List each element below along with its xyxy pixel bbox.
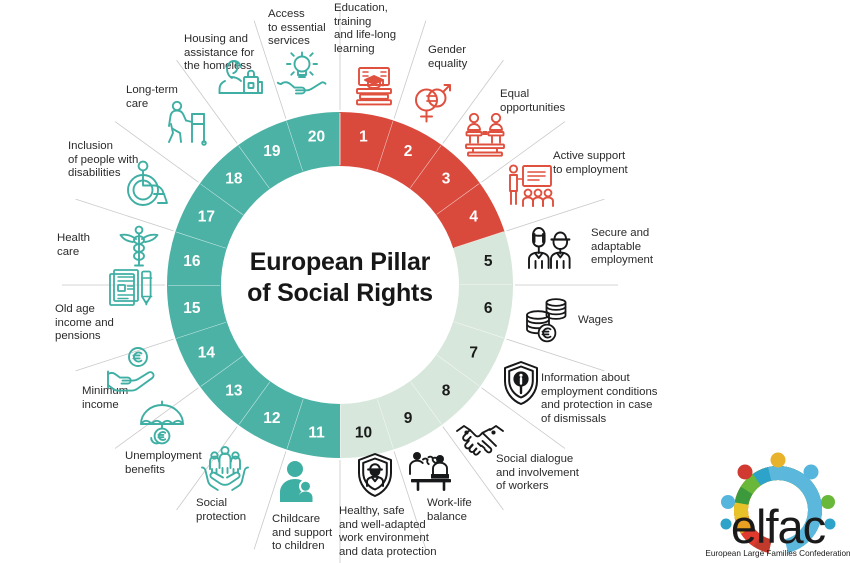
info-shield-icon [495, 358, 547, 410]
segment-number-3: 3 [442, 170, 451, 187]
family-in-hands-icon [199, 443, 251, 495]
parent-desk-icon [405, 446, 457, 498]
principle-label-16: Health care [57, 232, 109, 259]
principle-label-7: Information about employment conditions … [541, 372, 677, 426]
segment-number-6: 6 [484, 300, 493, 317]
worker-shield-icon [349, 450, 401, 502]
segment-number-15: 15 [183, 300, 201, 317]
umbrella-euro-icon [136, 400, 188, 452]
page-title-line1: European Pillar [250, 248, 431, 276]
principle-label-6: Wages [578, 314, 638, 328]
segment-number-10: 10 [355, 425, 372, 442]
segment-number-7: 7 [469, 345, 478, 362]
principle-label-5: Secure and adaptable employment [591, 227, 665, 268]
segment-number-16: 16 [183, 253, 201, 270]
principle-label-3: Equal opportunities [500, 88, 596, 115]
principle-label-2: Gender equality [428, 44, 508, 71]
segment-number-19: 19 [263, 143, 281, 160]
infographic-canvas: 1234567891011121314151617181920 European… [0, 0, 850, 563]
segment-number-9: 9 [404, 410, 413, 427]
segment-number-17: 17 [198, 208, 215, 225]
two-workers-icon [524, 222, 576, 274]
homeless-person-icon [214, 52, 266, 104]
elfac-logo: elfac European Large Families Confederat… [706, 424, 850, 563]
principle-label-4: Active support to employment [553, 150, 653, 177]
segment-number-13: 13 [225, 383, 243, 400]
segment-number-4: 4 [469, 208, 478, 225]
lightbulb-hand-icon [276, 50, 328, 102]
principle-label-12: Social protection [196, 497, 270, 524]
segment-number-11: 11 [308, 425, 325, 442]
principle-label-10: Healthy, safe and well-adapted work envi… [339, 505, 449, 559]
elderly-walker-icon [160, 98, 212, 150]
elfac-tagline: European Large Families Confederation [706, 549, 850, 558]
principle-label-11: Childcare and support to children [272, 513, 346, 554]
graduation-books-icon [348, 60, 400, 112]
segment-number-2: 2 [404, 143, 413, 160]
page-title-line2: of Social Rights [247, 279, 433, 307]
segment-number-1: 1 [359, 128, 368, 145]
principle-label-8: Social dialogue and involvement of worke… [496, 453, 600, 494]
principle-label-1: Education, training and life-long learni… [334, 2, 430, 56]
wheelchair-icon [123, 159, 175, 211]
segment-number-5: 5 [484, 253, 493, 270]
handshake-icon [454, 415, 506, 467]
gender-symbols-icon [405, 76, 457, 128]
parent-child-icon [271, 458, 323, 510]
segment-number-18: 18 [225, 170, 243, 187]
presenter-board-icon [504, 160, 556, 212]
principle-label-20: Access to essential services [268, 8, 348, 49]
segment-number-14: 14 [198, 345, 216, 362]
hand-euro-icon [104, 344, 156, 396]
segment-number-12: 12 [263, 410, 280, 427]
euro-coins-icon [521, 294, 573, 346]
segment-number-20: 20 [308, 128, 325, 145]
two-people-scales-icon [459, 108, 511, 160]
elfac-wordmark: elfac [731, 500, 826, 553]
segment-number-8: 8 [442, 383, 451, 400]
caduceus-icon [113, 222, 165, 274]
